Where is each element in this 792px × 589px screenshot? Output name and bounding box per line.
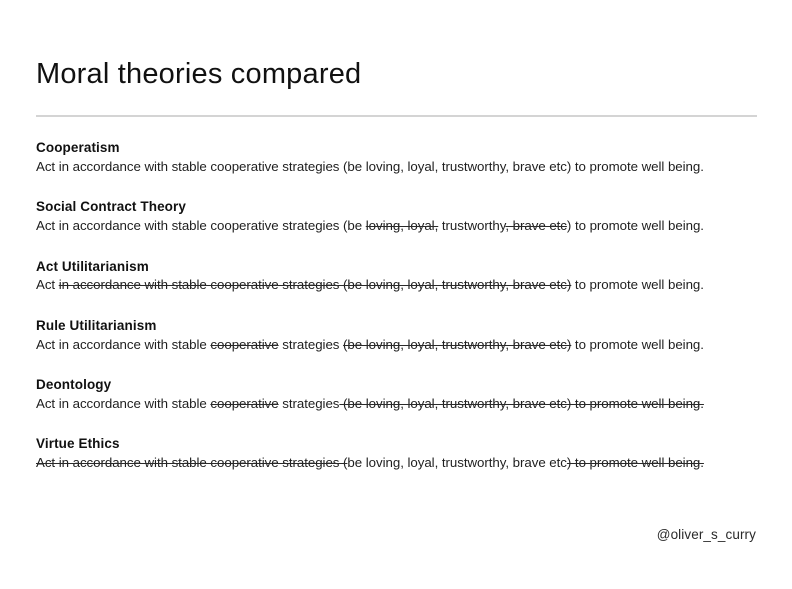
title-divider bbox=[36, 115, 757, 117]
statement-segment: trustworthy bbox=[438, 218, 505, 233]
statement-segment: Act in accordance with stable cooperativ… bbox=[36, 159, 704, 174]
statement-segment: to promote well being. bbox=[571, 337, 704, 352]
statement-segment-struck: cooperative bbox=[210, 337, 278, 352]
statement-segment: strategies bbox=[279, 337, 343, 352]
theory-name: Virtue Ethics bbox=[36, 435, 760, 453]
theory-name: Deontology bbox=[36, 376, 760, 394]
statement-segment-struck: loving, loyal, bbox=[366, 218, 438, 233]
statement-segment: Act in accordance with stable cooperativ… bbox=[36, 218, 366, 233]
theory-name: Rule Utilitarianism bbox=[36, 317, 760, 335]
statement-segment-struck: in accordance with stable cooperative st… bbox=[59, 277, 572, 292]
statement-segment-struck: (be loving, loyal, trustworthy, brave et… bbox=[343, 337, 571, 352]
statement-segment-struck: (be loving, loyal, trustworthy, brave et… bbox=[339, 396, 704, 411]
theory-list: CooperatismAct in accordance with stable… bbox=[36, 139, 760, 472]
statement-segment: Act in accordance with stable bbox=[36, 396, 210, 411]
theory-statement: Act in accordance with stable cooperativ… bbox=[36, 217, 760, 235]
theory-entry: Social Contract TheoryAct in accordance … bbox=[36, 198, 760, 235]
slide-canvas: Moral theories compared CooperatismAct i… bbox=[0, 0, 792, 589]
statement-segment-struck: cooperative bbox=[210, 396, 278, 411]
theory-name: Social Contract Theory bbox=[36, 198, 760, 216]
theory-entry: Act UtilitarianismAct in accordance with… bbox=[36, 258, 760, 295]
statement-segment-struck: Act in accordance with stable cooperativ… bbox=[36, 455, 347, 470]
theory-statement: Act in accordance with stable cooperativ… bbox=[36, 336, 760, 354]
theory-entry: CooperatismAct in accordance with stable… bbox=[36, 139, 760, 176]
statement-segment-struck: , brave etc bbox=[505, 218, 567, 233]
statement-segment: strategies bbox=[279, 396, 340, 411]
author-handle: @oliver_s_curry bbox=[657, 527, 756, 542]
theory-name: Cooperatism bbox=[36, 139, 760, 157]
page-title: Moral theories compared bbox=[36, 59, 361, 91]
statement-segment: to promote well being. bbox=[571, 277, 704, 292]
statement-segment: Act bbox=[36, 277, 59, 292]
theory-statement: Act in accordance with stable cooperativ… bbox=[36, 158, 760, 176]
theory-name: Act Utilitarianism bbox=[36, 258, 760, 276]
theory-statement: Act in accordance with stable cooperativ… bbox=[36, 454, 760, 472]
statement-segment: be loving, loyal, trustworthy, brave etc bbox=[347, 455, 566, 470]
theory-entry: Virtue EthicsAct in accordance with stab… bbox=[36, 435, 760, 472]
theory-entry: Rule UtilitarianismAct in accordance wit… bbox=[36, 317, 760, 354]
theory-statement: Act in accordance with stable cooperativ… bbox=[36, 395, 760, 413]
theory-entry: DeontologyAct in accordance with stable … bbox=[36, 376, 760, 413]
statement-segment: Act in accordance with stable bbox=[36, 337, 210, 352]
theory-statement: Act in accordance with stable cooperativ… bbox=[36, 276, 760, 294]
statement-segment-struck: ) to promote well being. bbox=[567, 455, 704, 470]
statement-segment: ) to promote well being. bbox=[567, 218, 704, 233]
